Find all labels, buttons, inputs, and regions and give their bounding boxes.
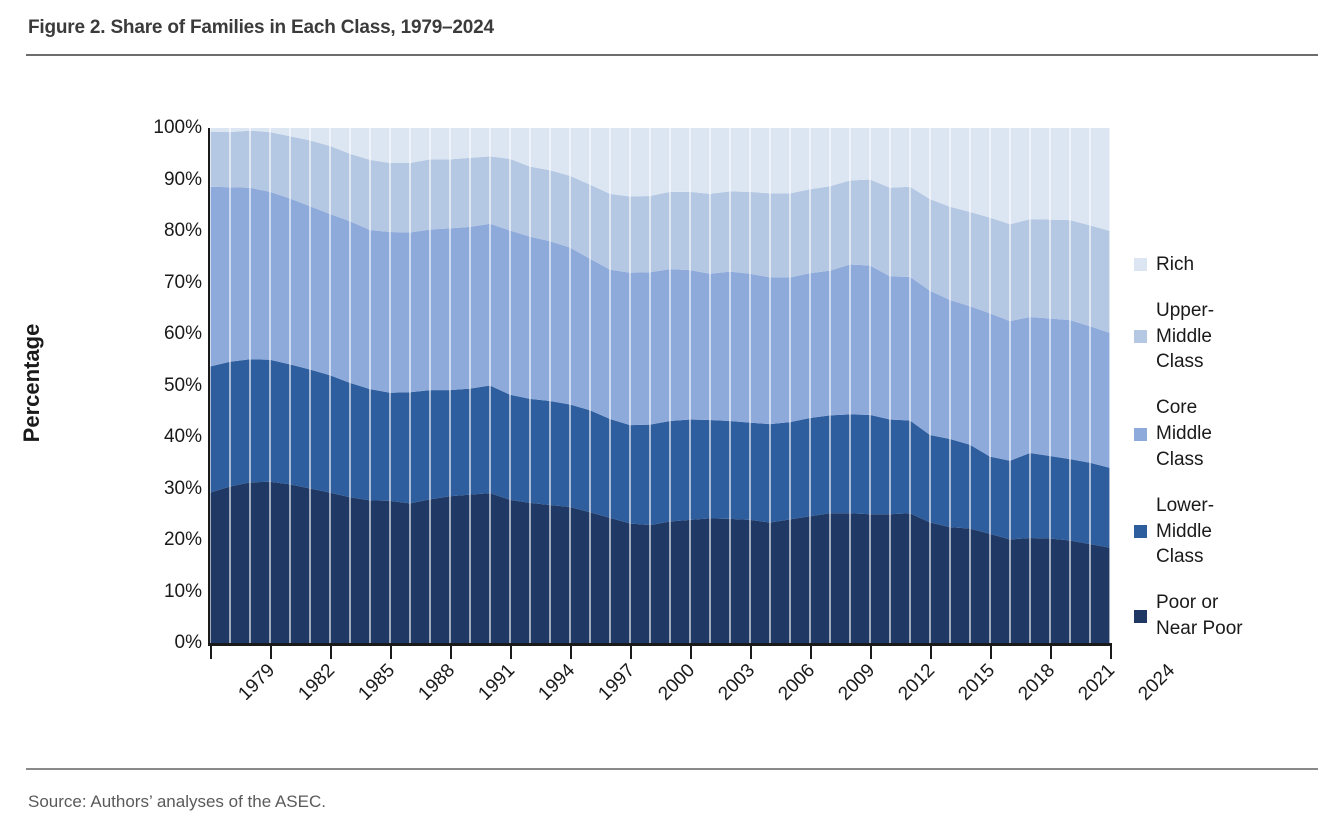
- x-axis-tick: [510, 646, 512, 659]
- legend-swatch-icon: [1134, 610, 1147, 623]
- y-axis-tick-label: 80%: [164, 220, 202, 242]
- x-axis-tick: [690, 646, 692, 659]
- x-axis-tick-labels: 1979198219851988199119941997200020032006…: [210, 660, 1170, 750]
- x-axis-tick-label: 2024: [1134, 660, 1179, 705]
- legend-swatch-icon: [1134, 525, 1147, 538]
- x-axis-ticks: [210, 646, 1110, 660]
- x-axis-tick: [810, 646, 812, 659]
- x-axis-tick-label: 2018: [1014, 660, 1059, 705]
- legend-item-label: Lower-MiddleClass: [1156, 493, 1214, 570]
- y-axis-tick-label: 30%: [164, 478, 202, 500]
- chart-legend: RichUpper-MiddleClassCoreMiddleClassLowe…: [1134, 252, 1334, 662]
- x-axis-tick: [750, 646, 752, 659]
- stacked-area-plot: [210, 128, 1110, 643]
- x-axis-tick-label: 2003: [714, 660, 759, 705]
- y-axis-tick-label: 40%: [164, 426, 202, 448]
- y-axis-tick-label: 0%: [175, 632, 202, 654]
- x-axis-tick: [570, 646, 572, 659]
- y-axis-tick-label: 20%: [164, 529, 202, 551]
- legend-item[interactable]: Lower-MiddleClass: [1134, 493, 1334, 570]
- y-axis-tick-label: 70%: [164, 272, 202, 294]
- source-divider: [26, 768, 1318, 770]
- plot-area: [210, 128, 1110, 643]
- legend-item[interactable]: Rich: [1134, 252, 1334, 278]
- x-axis-tick: [330, 646, 332, 659]
- x-axis-tick-label: 2021: [1074, 660, 1119, 705]
- title-divider: [26, 54, 1318, 56]
- y-axis-tick-label: 90%: [164, 169, 202, 191]
- x-axis-tick-label: 1991: [474, 660, 519, 705]
- x-axis-tick-label: 1988: [414, 660, 459, 705]
- page-title: Figure 2. Share of Families in Each Clas…: [28, 17, 494, 39]
- legend-swatch-icon: [1134, 258, 1147, 271]
- y-axis-tick-labels: 0%10%20%30%40%50%60%70%80%90%100%: [118, 128, 202, 643]
- legend-item-label: Poor orNear Poor: [1156, 590, 1243, 642]
- x-axis-tick: [870, 646, 872, 659]
- x-axis-tick-label: 2000: [654, 660, 699, 705]
- legend-item[interactable]: Poor orNear Poor: [1134, 590, 1334, 642]
- x-axis-tick: [270, 646, 272, 659]
- x-axis-tick-label: 1985: [354, 660, 399, 705]
- x-axis-tick: [1050, 646, 1052, 659]
- y-axis-tick-label: 10%: [164, 581, 202, 603]
- legend-item-label: CoreMiddleClass: [1156, 395, 1212, 472]
- legend-item[interactable]: CoreMiddleClass: [1134, 395, 1334, 472]
- x-axis-tick: [390, 646, 392, 659]
- x-axis-tick-label: 1979: [234, 660, 279, 705]
- y-axis-tick-label: 60%: [164, 323, 202, 345]
- x-axis-tick-label: 2006: [774, 660, 819, 705]
- legend-swatch-icon: [1134, 330, 1147, 343]
- x-axis-tick: [990, 646, 992, 659]
- legend-swatch-icon: [1134, 428, 1147, 441]
- chart-container: Percentage 0%10%20%30%40%50%60%70%80%90%…: [0, 60, 1342, 760]
- x-axis-tick-label: 2012: [894, 660, 939, 705]
- x-axis-tick: [450, 646, 452, 659]
- x-axis-tick-label: 1982: [294, 660, 339, 705]
- legend-item-label: Rich: [1156, 252, 1194, 278]
- legend-item-label: Upper-MiddleClass: [1156, 298, 1214, 375]
- y-axis-title: Percentage: [19, 263, 45, 503]
- y-axis-tick-label: 50%: [164, 375, 202, 397]
- source-note: Source: Authors’ analyses of the ASEC.: [28, 792, 326, 812]
- x-axis-tick-label: 1997: [594, 660, 639, 705]
- x-axis-tick-label: 2009: [834, 660, 879, 705]
- x-axis-tick: [1110, 646, 1112, 659]
- x-axis-tick-label: 1994: [534, 660, 579, 705]
- x-axis-tick: [630, 646, 632, 659]
- y-axis-tick-label: 100%: [153, 117, 202, 139]
- x-axis-tick: [210, 646, 212, 659]
- x-axis-tick: [930, 646, 932, 659]
- legend-item[interactable]: Upper-MiddleClass: [1134, 298, 1334, 375]
- x-axis-tick-label: 2015: [954, 660, 999, 705]
